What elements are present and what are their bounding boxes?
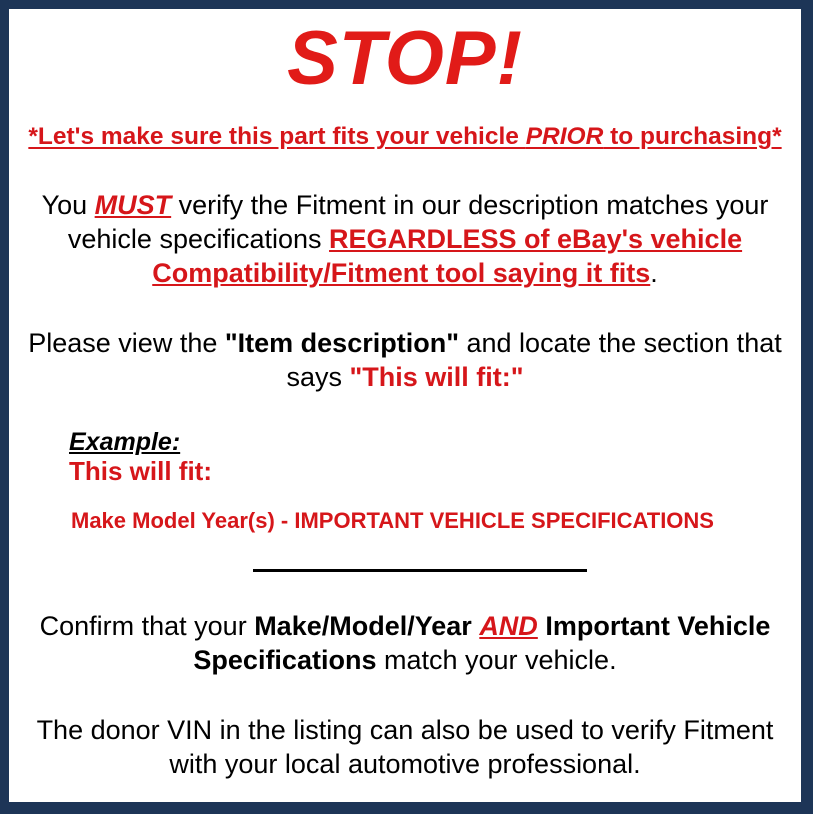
must-part-1: You [42,190,95,220]
confirm-part-1: Confirm that your [40,611,255,641]
item-description-label: "Item description" [225,328,459,358]
fitment-notice-card: STOP! *Let's make sure this part fits yo… [0,0,813,814]
example-block: Example: This will fit: Make Model Year(… [23,394,787,533]
must-verify-paragraph: You MUST verify the Fitment in our descr… [23,151,787,290]
tagline-prior-emphasis: PRIOR [526,123,604,150]
and-emphasis: AND [479,611,538,641]
thank-you-line: Thank you for confirming Fitment! [23,782,787,803]
must-emphasis: MUST [95,190,172,220]
fitment-tagline: *Let's make sure this part fits your veh… [23,97,787,151]
must-part-3: . [650,258,658,288]
notice-sheet: STOP! *Let's make sure this part fits yo… [9,9,801,802]
confirm-part-2: match your vehicle. [376,645,616,675]
example-fit-heading: This will fit: [69,456,787,487]
tagline-lead: *Let's make sure this part fits your veh… [28,123,525,150]
stop-headline: STOP! [23,9,787,97]
make-model-year-bold: Make/Model/Year [254,611,472,641]
example-spec-line: Make Model Year(s) - IMPORTANT VEHICLE S… [69,487,787,533]
donor-vin-paragraph: The donor VIN in the listing can also be… [23,677,787,781]
horizontal-rule [253,569,587,572]
this-will-fit-quote: "This will fit:" [349,362,523,392]
divider-wrapper [23,533,787,577]
view-part-1: Please view the [28,328,225,358]
confirm-paragraph: Confirm that your Make/Model/Year AND Im… [23,577,787,677]
item-description-paragraph: Please view the "Item description" and l… [23,290,787,394]
tagline-tail: to purchasing* [603,123,781,150]
example-label: Example: [69,428,787,456]
